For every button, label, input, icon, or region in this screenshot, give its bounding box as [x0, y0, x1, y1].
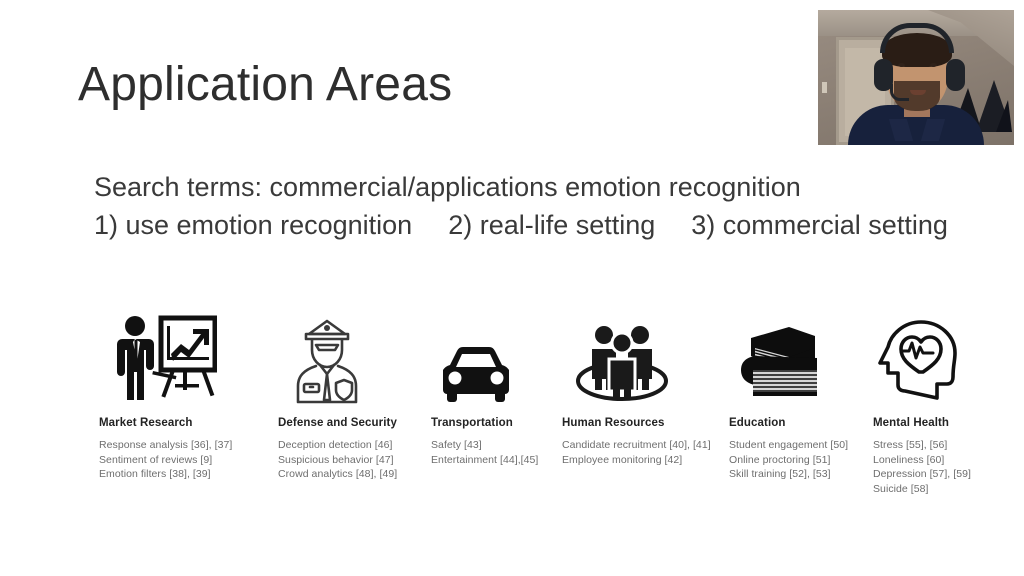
area-heading: Market Research [99, 417, 269, 429]
application-areas-row: Market Research Response analysis [36], … [0, 296, 1024, 506]
police-officer-icon [278, 296, 448, 404]
page-title: Application Areas [78, 56, 452, 114]
presenter-eye-right [930, 63, 937, 67]
presentation-slide: Application Areas Search terms: commerci… [0, 0, 1024, 576]
headphones-band [880, 23, 954, 53]
list-item: Crowd analytics [48], [49] [278, 467, 448, 482]
list-item: Stress [55], [56] [873, 438, 1024, 453]
list-item: Deception detection [46] [278, 438, 448, 453]
criterion-2: 2) real-life setting [448, 206, 655, 244]
webcam-video-frame [818, 10, 1014, 145]
webcam-presenter [818, 10, 1014, 145]
list-item: Sentiment of reviews [9] [99, 453, 269, 468]
area-column-human-resources: Human Resources Candidate recruitment [4… [562, 296, 732, 506]
area-column-defense-security: Defense and Security Deception detection… [278, 296, 448, 506]
area-items: Response analysis [36], [37] Sentiment o… [99, 438, 269, 482]
search-terms-block: Search terms: commercial/applications em… [94, 168, 948, 244]
criterion-1: 1) use emotion recognition [94, 206, 412, 244]
head-heartbeat-icon [873, 296, 1024, 404]
list-item: Depression [57], [59] [873, 467, 1024, 482]
presenter-webcam-overlay[interactable] [818, 10, 1014, 145]
list-item: Candidate recruitment [40], [41] [562, 438, 732, 453]
area-column-mental-health: Mental Health Stress [55], [56] Loneline… [873, 296, 1024, 506]
presenter-mouth [910, 90, 926, 95]
headphones-earcup-right [946, 59, 965, 91]
presenter-chart-icon [99, 296, 269, 404]
criteria-row: 1) use emotion recognition 2) real-life … [94, 206, 948, 244]
presenter-eye-left [898, 63, 905, 67]
list-item: Employee monitoring [42] [562, 453, 732, 468]
area-column-market-research: Market Research Response analysis [36], … [99, 296, 269, 506]
search-terms-line: Search terms: commercial/applications em… [94, 168, 948, 206]
area-heading: Human Resources [562, 417, 732, 429]
list-item: Response analysis [36], [37] [99, 438, 269, 453]
headset-microphone-boom [890, 84, 909, 101]
list-item: Emotion filters [38], [39] [99, 467, 269, 482]
list-item: Loneliness [60] [873, 453, 1024, 468]
area-heading: Defense and Security [278, 417, 448, 429]
list-item: Suicide [58] [873, 482, 1024, 497]
list-item: Suspicious behavior [47] [278, 453, 448, 468]
area-items: Candidate recruitment [40], [41] Employe… [562, 438, 732, 467]
area-heading: Mental Health [873, 417, 1024, 429]
criterion-3: 3) commercial setting [691, 206, 948, 244]
people-group-icon [562, 296, 732, 404]
area-items: Deception detection [46] Suspicious beha… [278, 438, 448, 482]
area-items: Stress [55], [56] Loneliness [60] Depres… [873, 438, 1024, 496]
